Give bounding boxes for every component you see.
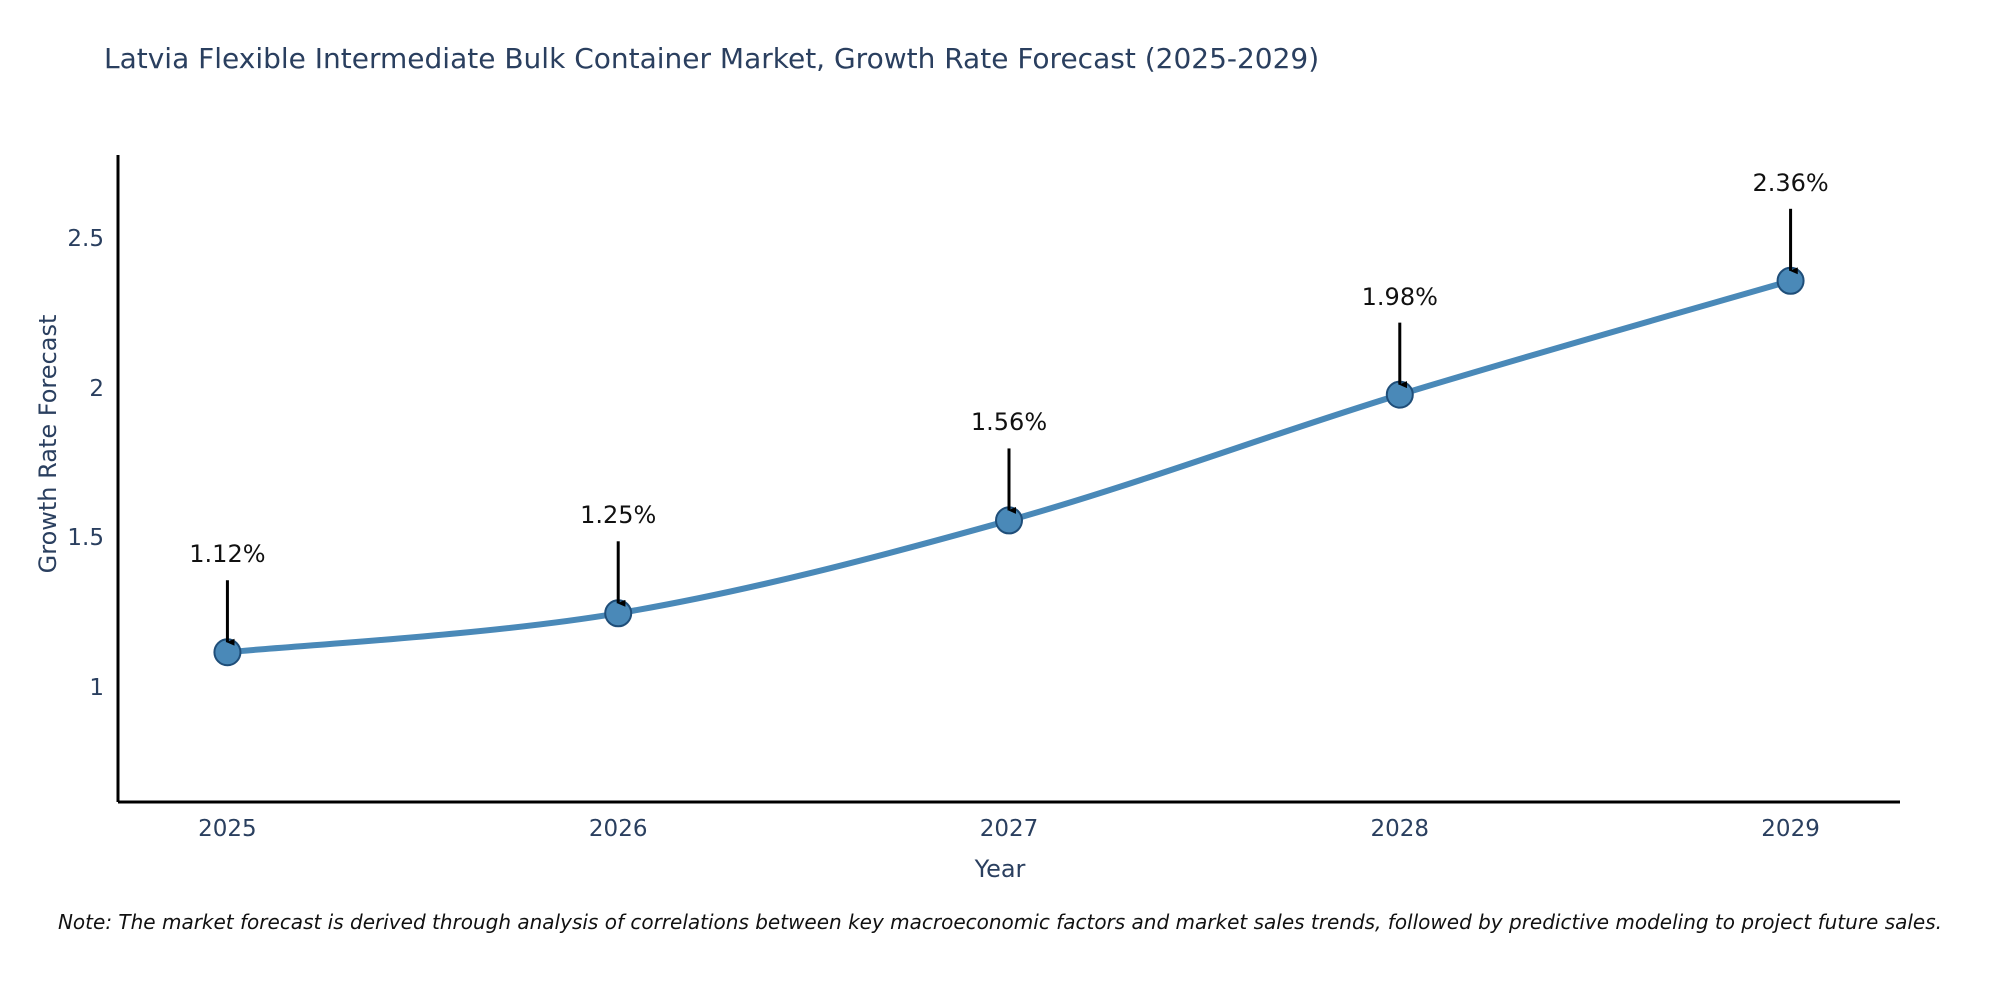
y-tick-label: 1.5 (14, 525, 104, 551)
data-point-marker (605, 600, 631, 626)
data-point-label: 1.56% (919, 408, 1099, 436)
data-point-label: 1.12% (137, 540, 317, 568)
chart-footnote: Note: The market forecast is derived thr… (0, 910, 2000, 934)
data-point-label: 1.98% (1310, 283, 1490, 311)
x-tick-label: 2027 (929, 816, 1089, 842)
data-point-marker (996, 507, 1022, 533)
y-tick-label: 1 (14, 675, 104, 701)
data-point-marker (214, 639, 240, 665)
data-point-label: 2.36% (1701, 169, 1881, 197)
x-tick-label: 2028 (1320, 816, 1480, 842)
data-point-marker (1387, 382, 1413, 408)
x-tick-label: 2025 (147, 816, 307, 842)
y-tick-label: 2 (14, 376, 104, 402)
x-tick-label: 2026 (538, 816, 698, 842)
data-point-label: 1.25% (528, 501, 708, 529)
data-point-marker (1778, 268, 1804, 294)
plot-area (0, 0, 2000, 1000)
x-tick-label: 2029 (1711, 816, 1871, 842)
y-tick-label: 2.5 (14, 226, 104, 252)
chart-container: Latvia Flexible Intermediate Bulk Contai… (0, 0, 2000, 1000)
